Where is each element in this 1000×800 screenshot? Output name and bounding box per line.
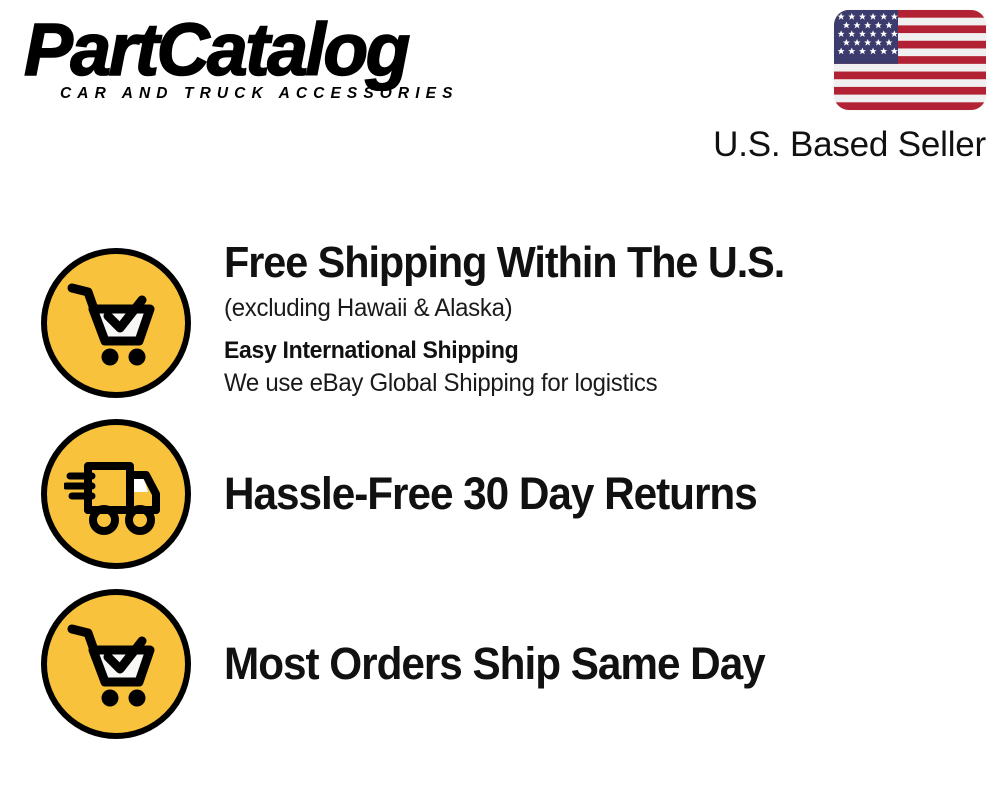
banner-header: PartCatalog CAR AND TRUCK ACCESSORIES: [0, 0, 1000, 165]
cart-check-icon: [41, 589, 191, 739]
feature-subtitle: We use eBay Global Shipping for logistic…: [224, 369, 950, 398]
promo-banner: PartCatalog CAR AND TRUCK ACCESSORIES: [0, 0, 1000, 800]
feature-row: Most Orders Ship Same Day: [0, 580, 1000, 748]
feature-text-block: Free Shipping Within The U.S. (excluding…: [224, 240, 1000, 398]
feature-title: Most Orders Ship Same Day: [224, 640, 935, 688]
feature-text-block: Hassle-Free 30 Day Returns: [224, 470, 1000, 518]
feature-subtitle-strong: Easy International Shipping: [224, 337, 950, 365]
feature-row: Hassle-Free 30 Day Returns: [0, 410, 1000, 578]
feature-text-block: Most Orders Ship Same Day: [224, 640, 1000, 688]
feature-note: (excluding Hawaii & Alaska): [224, 294, 950, 323]
us-flag-icon: [834, 10, 986, 110]
us-based-seller-badge: U.S. Based Seller: [686, 10, 986, 162]
cart-check-icon: [41, 248, 191, 398]
brand-wordmark: PartCatalog: [24, 16, 489, 84]
feature-title: Free Shipping Within The U.S.: [224, 240, 935, 287]
feature-row: Free Shipping Within The U.S. (excluding…: [0, 232, 1000, 402]
delivery-truck-icon: [41, 419, 191, 569]
us-based-seller-label: U.S. Based Seller: [686, 127, 986, 162]
brand-logo: PartCatalog CAR AND TRUCK ACCESSORIES: [24, 16, 494, 103]
feature-title: Hassle-Free 30 Day Returns: [224, 470, 935, 518]
